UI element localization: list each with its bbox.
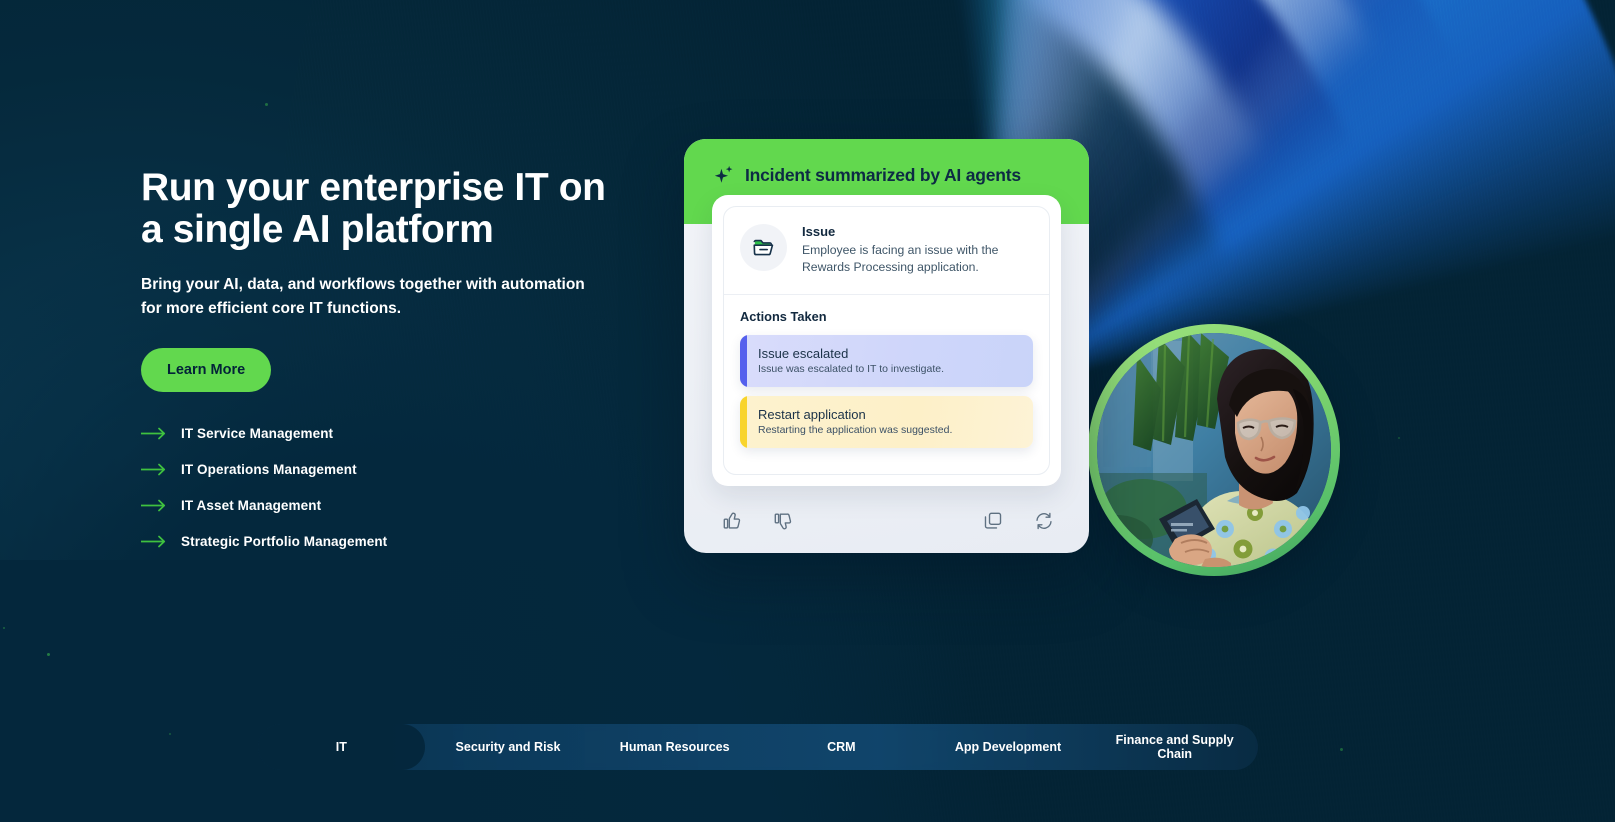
tab-crm[interactable]: CRM	[758, 724, 925, 770]
actions-taken-section: Actions Taken Issue escalated Issue was …	[724, 295, 1049, 474]
link-it-operations-management[interactable]: IT Operations Management	[141, 462, 357, 477]
tab-label: Human Resources	[620, 740, 730, 754]
arrow-right-icon	[141, 427, 167, 440]
link-it-asset-management[interactable]: IT Asset Management	[141, 498, 321, 513]
ai-card-panel: Issue Employee is facing an issue with t…	[712, 195, 1061, 486]
arrow-right-icon	[141, 499, 167, 512]
link-label: IT Operations Management	[181, 462, 357, 477]
page-subtitle: Bring your AI, data, and workflows toget…	[141, 273, 603, 321]
action-description: Issue was escalated to IT to investigate…	[758, 363, 1019, 375]
folder-open-icon	[751, 235, 776, 260]
tab-label: CRM	[827, 740, 855, 754]
tab-label: Security and Risk	[456, 740, 561, 754]
ai-card-title: Incident summarized by AI agents	[745, 165, 1021, 186]
action-title: Restart application	[758, 407, 1019, 422]
ai-card-inner: Issue Employee is facing an issue with t…	[723, 206, 1050, 475]
link-label: IT Service Management	[181, 426, 333, 441]
page-title: Run your enterprise IT on a single AI pl…	[141, 167, 611, 250]
actions-taken-heading: Actions Taken	[740, 309, 1033, 324]
ai-card-footer	[684, 486, 1089, 553]
issue-summary-row: Issue Employee is facing an issue with t…	[724, 207, 1049, 295]
thumbs-up-icon[interactable]	[722, 510, 744, 532]
tab-app-development[interactable]: App Development	[925, 724, 1092, 770]
wave-mask-bottom	[0, 560, 1000, 822]
tab-human-resources[interactable]: Human Resources	[591, 724, 758, 770]
tab-it[interactable]: IT	[258, 724, 425, 770]
action-card-issue-escalated[interactable]: Issue escalated Issue was escalated to I…	[740, 335, 1033, 387]
speckle-dot	[3, 627, 5, 629]
issue-title: Issue	[802, 224, 1033, 239]
category-tab-bar: IT Security and Risk Human Resources CRM…	[258, 724, 1258, 770]
action-card-restart-application[interactable]: Restart application Restarting the appli…	[740, 396, 1033, 448]
hero-section: Run your enterprise IT on a single AI pl…	[0, 0, 1615, 822]
speckle-dot	[47, 653, 50, 656]
sparkle-icon	[713, 164, 735, 186]
arrow-right-icon	[141, 535, 167, 548]
tab-label: App Development	[955, 740, 1061, 754]
tab-label: Finance and Supply Chain	[1097, 733, 1252, 762]
action-title: Issue escalated	[758, 346, 1019, 361]
issue-description: Employee is facing an issue with the Rew…	[802, 242, 1033, 276]
link-it-service-management[interactable]: IT Service Management	[141, 426, 333, 441]
tab-label: IT	[336, 740, 347, 754]
hero-text-column: Run your enterprise IT on a single AI pl…	[141, 167, 611, 570]
refresh-icon[interactable]	[1033, 510, 1055, 532]
link-label: IT Asset Management	[181, 498, 321, 513]
tab-security-and-risk[interactable]: Security and Risk	[425, 724, 592, 770]
arrow-right-icon	[141, 463, 167, 476]
issue-text-block: Issue Employee is facing an issue with t…	[802, 224, 1033, 276]
issue-icon-container	[740, 224, 787, 271]
ai-summary-card: Incident summarized by AI agents	[684, 139, 1089, 553]
product-link-list: IT Service Management IT Operations Mana…	[141, 426, 611, 549]
learn-more-button[interactable]: Learn More	[141, 348, 271, 392]
copy-icon[interactable]	[982, 510, 1004, 532]
tab-finance-and-supply-chain[interactable]: Finance and Supply Chain	[1091, 724, 1258, 770]
thumbs-down-icon[interactable]	[773, 510, 795, 532]
avatar	[1097, 333, 1331, 567]
speckle-dot	[169, 733, 171, 735]
person-photo-circle	[1088, 324, 1340, 576]
link-strategic-portfolio-management[interactable]: Strategic Portfolio Management	[141, 534, 387, 549]
speckle-dot	[1340, 748, 1343, 751]
speckle-dot	[1398, 437, 1400, 439]
speckle-dot	[265, 103, 268, 106]
link-label: Strategic Portfolio Management	[181, 534, 387, 549]
action-description: Restarting the application was suggested…	[758, 424, 1019, 436]
